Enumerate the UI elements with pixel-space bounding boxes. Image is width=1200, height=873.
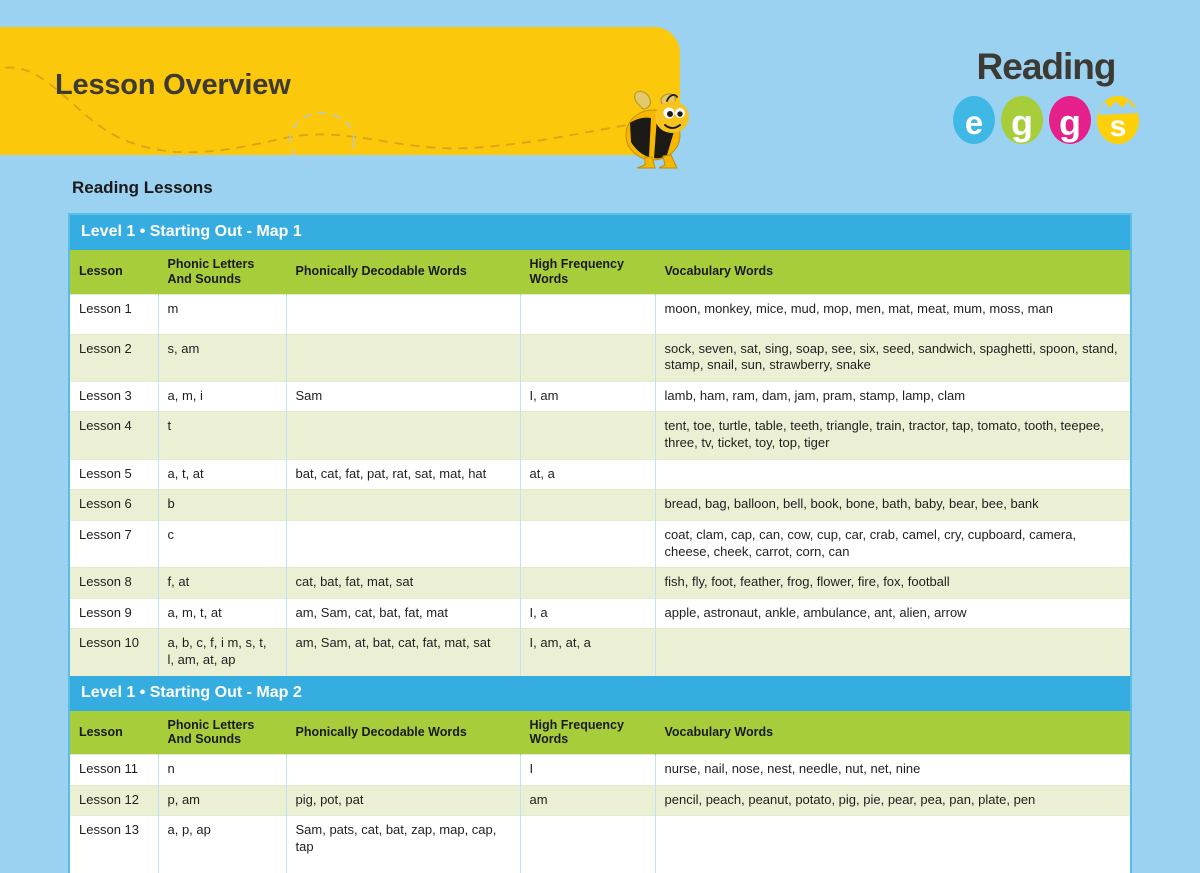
table-row[interactable]: Lesson 10 a, b, c, f, i m, s, t, l, am, … bbox=[70, 629, 1130, 676]
table-row[interactable]: Lesson 11 n I nurse, nail, nose, nest, n… bbox=[70, 755, 1130, 786]
cell-lesson: Lesson 2 bbox=[70, 334, 158, 381]
svg-text:g: g bbox=[1011, 102, 1033, 143]
logo-wordmark: Reading bbox=[950, 48, 1142, 85]
table-body: Level 1 • Starting Out - Map 1 Lesson Ph… bbox=[70, 215, 1130, 873]
cell-hfw bbox=[520, 568, 655, 599]
cell-vocabulary bbox=[655, 816, 1130, 873]
cell-decodable: Sam bbox=[286, 381, 520, 412]
cell-phonic: t bbox=[158, 412, 286, 459]
logo-eggs-group: e g g s bbox=[950, 87, 1142, 145]
cell-hfw: I, am bbox=[520, 381, 655, 412]
cell-lesson: Lesson 10 bbox=[70, 629, 158, 676]
table-row[interactable]: Lesson 13 a, p, ap Sam, pats, cat, bat, … bbox=[70, 816, 1130, 873]
cell-hfw: I, a bbox=[520, 598, 655, 629]
cell-phonic: m bbox=[158, 294, 286, 334]
col-header-lesson: Lesson bbox=[70, 250, 158, 294]
col-header-hfw: High Frequency Words bbox=[520, 711, 655, 755]
cell-vocabulary bbox=[655, 459, 1130, 490]
section-band-map1: Level 1 • Starting Out - Map 1 bbox=[70, 215, 1130, 250]
col-header-hfw-l2: Words bbox=[530, 272, 569, 286]
band-label: Level 1 • Starting Out - Map 2 bbox=[70, 676, 1130, 711]
cell-lesson: Lesson 11 bbox=[70, 755, 158, 786]
cell-decodable bbox=[286, 520, 520, 567]
band-label: Level 1 • Starting Out - Map 1 bbox=[70, 215, 1130, 250]
cell-vocabulary: fish, fly, foot, feather, frog, flower, … bbox=[655, 568, 1130, 599]
col-header-phonic-l1: Phonic Letters bbox=[168, 257, 255, 271]
cell-hfw: am bbox=[520, 785, 655, 816]
bee-mascot-icon bbox=[615, 85, 695, 170]
lessons-table: Level 1 • Starting Out - Map 1 Lesson Ph… bbox=[70, 215, 1130, 873]
table-row[interactable]: Lesson 5 a, t, at bat, cat, fat, pat, ra… bbox=[70, 459, 1130, 490]
col-header-decodable: Phonically Decodable Words bbox=[286, 250, 520, 294]
cell-hfw bbox=[520, 334, 655, 381]
cell-lesson: Lesson 4 bbox=[70, 412, 158, 459]
reading-eggs-logo: Reading e g g s bbox=[950, 48, 1142, 145]
column-header-row-map1: Lesson Phonic Letters And Sounds Phonica… bbox=[70, 250, 1130, 294]
cell-phonic: n bbox=[158, 755, 286, 786]
cell-phonic: s, am bbox=[158, 334, 286, 381]
egg-e-icon: e bbox=[950, 87, 998, 145]
cell-vocabulary: lamb, ham, ram, dam, jam, pram, stamp, l… bbox=[655, 381, 1130, 412]
cell-decodable: pig, pot, pat bbox=[286, 785, 520, 816]
cell-phonic: c bbox=[158, 520, 286, 567]
cell-lesson: Lesson 1 bbox=[70, 294, 158, 334]
cell-decodable bbox=[286, 490, 520, 521]
cell-hfw: I, am, at, a bbox=[520, 629, 655, 676]
table-row[interactable]: Lesson 6 b bread, bag, balloon, bell, bo… bbox=[70, 490, 1130, 521]
cell-phonic: a, t, at bbox=[158, 459, 286, 490]
cell-phonic: f, at bbox=[158, 568, 286, 599]
cell-vocabulary: tent, toe, turtle, table, teeth, triangl… bbox=[655, 412, 1130, 459]
column-header-row-map2: Lesson Phonic Letters And Sounds Phonica… bbox=[70, 711, 1130, 755]
cell-vocabulary: coat, clam, cap, can, cow, cup, car, cra… bbox=[655, 520, 1130, 567]
cell-phonic: b bbox=[158, 490, 286, 521]
lesson-overview-banner: Lesson Overview bbox=[0, 27, 680, 155]
cell-hfw bbox=[520, 490, 655, 521]
col-header-phonic-l2: And Sounds bbox=[168, 732, 242, 746]
cell-hfw bbox=[520, 520, 655, 567]
cell-decodable: bat, cat, fat, pat, rat, sat, mat, hat bbox=[286, 459, 520, 490]
cell-phonic: a, m, i bbox=[158, 381, 286, 412]
cell-lesson: Lesson 8 bbox=[70, 568, 158, 599]
egg-s-cracked-icon: s bbox=[1094, 87, 1142, 145]
egg-g2-icon: g bbox=[1046, 87, 1094, 145]
col-header-phonic-l1: Phonic Letters bbox=[168, 718, 255, 732]
cell-vocabulary: sock, seven, sat, sing, soap, see, six, … bbox=[655, 334, 1130, 381]
cell-decodable bbox=[286, 412, 520, 459]
col-header-vocabulary: Vocabulary Words bbox=[655, 711, 1130, 755]
cell-lesson: Lesson 6 bbox=[70, 490, 158, 521]
col-header-phonic: Phonic Letters And Sounds bbox=[158, 250, 286, 294]
col-header-phonic-l2: And Sounds bbox=[168, 272, 242, 286]
table-row[interactable]: Lesson 9 a, m, t, at am, Sam, cat, bat, … bbox=[70, 598, 1130, 629]
cell-vocabulary: apple, astronaut, ankle, ambulance, ant,… bbox=[655, 598, 1130, 629]
table-row[interactable]: Lesson 2 s, am sock, seven, sat, sing, s… bbox=[70, 334, 1130, 381]
cell-vocabulary bbox=[655, 629, 1130, 676]
table-row[interactable]: Lesson 12 p, am pig, pot, pat am pencil,… bbox=[70, 785, 1130, 816]
section-heading: Reading Lessons bbox=[72, 178, 213, 198]
cell-phonic: p, am bbox=[158, 785, 286, 816]
col-header-hfw-l1: High Frequency bbox=[530, 257, 624, 271]
cell-hfw bbox=[520, 412, 655, 459]
table-row[interactable]: Lesson 8 f, at cat, bat, fat, mat, sat f… bbox=[70, 568, 1130, 599]
page-title: Lesson Overview bbox=[55, 69, 291, 102]
cell-lesson: Lesson 5 bbox=[70, 459, 158, 490]
reading-lessons-table: Level 1 • Starting Out - Map 1 Lesson Ph… bbox=[68, 213, 1132, 873]
cell-vocabulary: bread, bag, balloon, bell, book, bone, b… bbox=[655, 490, 1130, 521]
cell-decodable: cat, bat, fat, mat, sat bbox=[286, 568, 520, 599]
cell-phonic: a, m, t, at bbox=[158, 598, 286, 629]
cell-lesson: Lesson 13 bbox=[70, 816, 158, 873]
cell-lesson: Lesson 12 bbox=[70, 785, 158, 816]
cell-vocabulary: moon, monkey, mice, mud, mop, men, mat, … bbox=[655, 294, 1130, 334]
col-header-hfw: High Frequency Words bbox=[520, 250, 655, 294]
cell-vocabulary: nurse, nail, nose, nest, needle, nut, ne… bbox=[655, 755, 1130, 786]
section-band-map2: Level 1 • Starting Out - Map 2 bbox=[70, 676, 1130, 711]
col-header-decodable: Phonically Decodable Words bbox=[286, 711, 520, 755]
cell-hfw bbox=[520, 294, 655, 334]
cell-decodable: am, Sam, at, bat, cat, fat, mat, sat bbox=[286, 629, 520, 676]
cell-decodable bbox=[286, 294, 520, 334]
table-row[interactable]: Lesson 4 t tent, toe, turtle, table, tee… bbox=[70, 412, 1130, 459]
col-header-hfw-l1: High Frequency bbox=[530, 718, 624, 732]
table-row[interactable]: Lesson 3 a, m, i Sam I, am lamb, ham, ra… bbox=[70, 381, 1130, 412]
col-header-phonic: Phonic Letters And Sounds bbox=[158, 711, 286, 755]
cell-lesson: Lesson 9 bbox=[70, 598, 158, 629]
cell-lesson: Lesson 7 bbox=[70, 520, 158, 567]
svg-text:g: g bbox=[1059, 102, 1081, 143]
cell-hfw: at, a bbox=[520, 459, 655, 490]
cell-decodable: am, Sam, cat, bat, fat, mat bbox=[286, 598, 520, 629]
cell-decodable bbox=[286, 755, 520, 786]
col-header-lesson: Lesson bbox=[70, 711, 158, 755]
cell-hfw bbox=[520, 816, 655, 873]
cell-decodable: Sam, pats, cat, bat, zap, map, cap, tap bbox=[286, 816, 520, 873]
svg-text:s: s bbox=[1110, 110, 1127, 143]
cell-phonic: a, p, ap bbox=[158, 816, 286, 873]
table-row[interactable]: Lesson 7 c coat, clam, cap, can, cow, cu… bbox=[70, 520, 1130, 567]
cell-phonic: a, b, c, f, i m, s, t, l, am, at, ap bbox=[158, 629, 286, 676]
cell-hfw: I bbox=[520, 755, 655, 786]
table-row[interactable]: Lesson 1 m moon, monkey, mice, mud, mop,… bbox=[70, 294, 1130, 334]
cell-vocabulary: pencil, peach, peanut, potato, pig, pie,… bbox=[655, 785, 1130, 816]
svg-text:e: e bbox=[965, 104, 983, 141]
egg-g-icon: g bbox=[998, 87, 1046, 145]
cell-decodable bbox=[286, 334, 520, 381]
col-header-vocabulary: Vocabulary Words bbox=[655, 250, 1130, 294]
col-header-hfw-l2: Words bbox=[530, 732, 569, 746]
cell-lesson: Lesson 3 bbox=[70, 381, 158, 412]
